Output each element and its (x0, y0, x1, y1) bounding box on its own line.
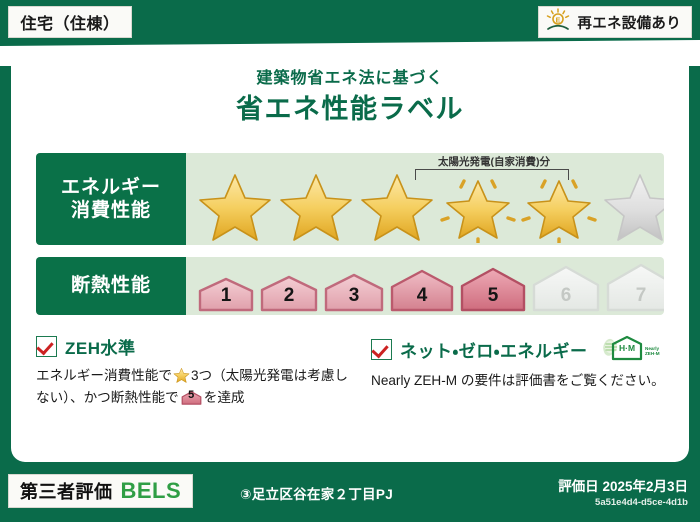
star-icon-empty (601, 169, 664, 243)
label-card: 建築物省エネ法に基づく 省エネ性能ラベル エネルギー 消費性能 太陽光発電(自家… (11, 46, 689, 462)
insulation-performance-label: 断熱性能 (36, 257, 186, 315)
svg-text:H·M: H·M (619, 343, 635, 353)
insulation-grade-scale: 1 2 3 (186, 260, 664, 312)
house-grade-icon-inline: 5 (181, 389, 202, 406)
star-icon-solar (520, 169, 598, 243)
star-icon (277, 169, 355, 243)
house-grade-value: 1 (196, 285, 256, 307)
bels-prefix-label: 第三者評価 (20, 478, 113, 504)
house-grade-icon: 4 (388, 266, 456, 312)
house-grade-icon: 2 (258, 272, 320, 312)
bels-third-party-chip: 第三者評価 BELS (8, 474, 193, 508)
zeh-desc-part1: エネルギー消費性能で (36, 368, 172, 383)
house-grade-value-inline: 5 (181, 387, 202, 405)
star-rating (186, 155, 664, 243)
zeh-desc-part3: を達成 (204, 390, 245, 405)
solar-sun-icon: E (545, 8, 571, 37)
svg-text:ZEH-M: ZEH-M (645, 351, 660, 356)
insulation-performance-row: 断熱性能 1 (36, 257, 664, 315)
house-grade-value: 5 (458, 285, 528, 307)
house-grade-icon-empty: 6 (530, 262, 602, 312)
zeh-heading-row: ZEH水準 (36, 334, 354, 359)
renewable-equipment-chip: E 再エネ設備あり (538, 6, 692, 38)
bels-name-label: BELS (121, 478, 182, 504)
document-id: 5a51e4d4-d5ce-4d1b (558, 497, 688, 508)
star-icon-inline (173, 367, 190, 383)
house-grade-value: 3 (322, 285, 386, 307)
svg-text:E: E (556, 17, 561, 24)
check-icon (371, 339, 392, 360)
nearly-zeh-m-logo: H·M Nearly ZEH-M (599, 334, 661, 364)
energy-performance-label: エネルギー 消費性能 (36, 153, 186, 245)
house-grade-icon: 3 (322, 270, 386, 312)
label-root: 住宅（住棟） E 再エネ設備あり 建築物省エネ法に基づく 省エネ性能ラベル (0, 0, 700, 522)
check-icon (36, 336, 57, 357)
house-grade-value: 7 (604, 285, 664, 307)
insulation-grades-area: 1 2 3 (186, 257, 664, 315)
house-grade-icon-empty: 7 (604, 260, 664, 312)
building-type-chip: 住宅（住棟） (8, 6, 132, 38)
energy-stars-area: 太陽光発電(自家消費)分 (186, 153, 664, 245)
net-zero-heading-row: ネット・ゼロ・エネルギー H·M Nearly ZEH-M (371, 334, 671, 364)
house-grade-value: 4 (388, 285, 456, 307)
net-zero-energy-block: ネット・ゼロ・エネルギー H·M Nearly ZEH-M (371, 334, 671, 392)
zeh-description: エネルギー消費性能で3つ（太陽光発電は考慮しない）、かつ断熱性能で5を達成 (36, 365, 354, 409)
footer: 第三者評価 BELS ③足立区谷在家２丁目PJ 評価日 2025年2月3日 5a… (0, 466, 700, 522)
building-type-label: 住宅（住棟） (20, 10, 119, 34)
project-name: ③足立区谷在家２丁目PJ (240, 483, 393, 503)
house-grade-icon: 1 (196, 274, 256, 312)
solar-contribution-note: 太陽光発電(自家消費)分 (414, 154, 574, 169)
evaluation-date: 評価日 2025年2月3日 (558, 475, 688, 495)
net-zero-heading: ネット・ゼロ・エネルギー (400, 337, 588, 362)
zeh-heading: ZEH水準 (65, 334, 136, 359)
star-icon (358, 169, 436, 243)
energy-performance-row: エネルギー 消費性能 太陽光発電(自家消費)分 (36, 153, 664, 245)
page-title: 省エネ性能ラベル (11, 87, 689, 126)
star-icon (196, 169, 274, 243)
house-grade-value: 2 (258, 285, 320, 307)
net-zero-description: Nearly ZEH-M の要件は評価書をご覧ください。 (371, 370, 671, 392)
zeh-standard-block: ZEH水準 エネルギー消費性能で3つ（太陽光発電は考慮しない）、かつ断熱性能で5… (36, 334, 354, 409)
star-icon-solar (439, 169, 517, 243)
evaluation-meta: 評価日 2025年2月3日 5a51e4d4-d5ce-4d1b (558, 475, 688, 508)
title-sub: 建築物省エネ法に基づく (11, 64, 689, 88)
house-grade-value: 6 (530, 285, 602, 307)
renewable-equipment-label: 再エネ設備あり (577, 12, 681, 33)
house-grade-icon: 5 (458, 264, 528, 312)
